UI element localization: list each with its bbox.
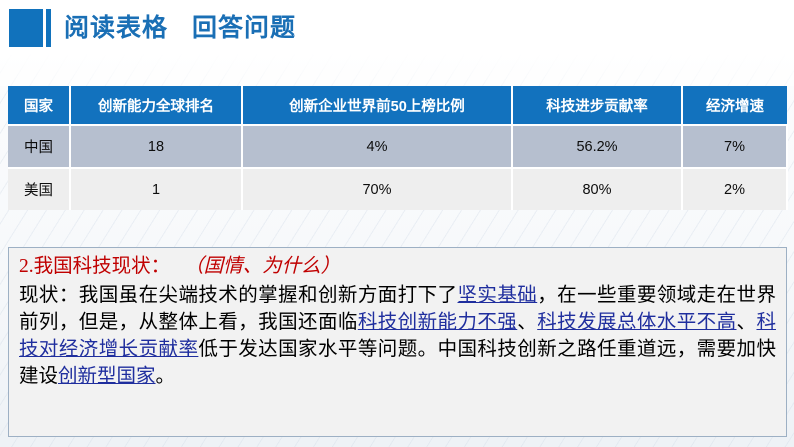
- table-header-growth: 经济增速: [682, 86, 787, 125]
- table-row: 中国 18 4% 56.2% 7%: [8, 125, 787, 168]
- cell-country: 中国: [8, 125, 70, 168]
- page-title-part1: 阅读表格: [64, 14, 168, 42]
- cell-contribution: 80%: [512, 168, 682, 210]
- cell-rank: 18: [70, 125, 242, 168]
- accent-square-icon: [9, 9, 43, 47]
- table-header-row: 国家 创新能力全球排名 创新企业世界前50上榜比例 科技进步贡献率 经济增速: [8, 86, 787, 125]
- table-header: 国家 创新能力全球排名 创新企业世界前50上榜比例 科技进步贡献率 经济增速: [8, 86, 787, 125]
- page-title-part2: 回答问题: [192, 14, 296, 42]
- heading-parenthetical: （国情、为什么）: [184, 256, 340, 277]
- table-header-contribution: 科技进步贡献率: [512, 86, 682, 125]
- body-segment-3: 、: [517, 312, 537, 333]
- textbox-heading: 2.我国科技现状：（国情、为什么）: [19, 254, 776, 280]
- title-accent-marker: [9, 9, 51, 47]
- textbox-body: 现状：我国虽在尖端技术的掌握和创新方面打下了坚实基础，在一些重要领域走在世界前列…: [19, 282, 776, 390]
- cell-growth: 7%: [682, 125, 787, 168]
- table-row: 美国 1 70% 80% 2%: [8, 168, 787, 210]
- cell-growth: 2%: [682, 168, 787, 210]
- table-header-top50: 创新企业世界前50上榜比例: [242, 86, 512, 125]
- cell-top50: 70%: [242, 168, 512, 210]
- body-segment-1: 现状：我国虽在尖端技术的掌握和创新方面打下了: [19, 285, 458, 306]
- cell-top50: 4%: [242, 125, 512, 168]
- comparison-table: 国家 创新能力全球排名 创新企业世界前50上榜比例 科技进步贡献率 经济增速 中…: [8, 86, 788, 210]
- table-header-rank: 创新能力全球排名: [70, 86, 242, 125]
- cell-country: 美国: [8, 168, 70, 210]
- body-keyword-2: 科技创新能力不强: [358, 312, 517, 333]
- slide-canvas: 阅读表格回答问题 国家 创新能力全球排名 创新企业世界前50上榜比例 科技进步贡…: [0, 0, 794, 447]
- cell-contribution: 56.2%: [512, 125, 682, 168]
- body-keyword-1: 坚实基础: [458, 285, 538, 306]
- accent-bar-icon: [46, 9, 51, 47]
- body-segment-6: 。: [156, 366, 176, 387]
- page-title: 阅读表格回答问题: [64, 9, 296, 47]
- body-keyword-3: 科技发展总体水平不高: [537, 312, 736, 333]
- explanation-textbox: 2.我国科技现状：（国情、为什么） 现状：我国虽在尖端技术的掌握和创新方面打下了…: [8, 247, 787, 437]
- heading-number: 2.: [19, 256, 34, 277]
- heading-main: 我国科技现状：: [34, 256, 171, 277]
- table-header-country: 国家: [8, 86, 70, 125]
- slide-title-bar: 阅读表格回答问题: [0, 8, 296, 48]
- table-body: 中国 18 4% 56.2% 7% 美国 1 70% 80% 2%: [8, 125, 787, 210]
- cell-rank: 1: [70, 168, 242, 210]
- body-segment-4: 、: [737, 312, 757, 333]
- body-keyword-5: 创新型国家: [58, 366, 156, 387]
